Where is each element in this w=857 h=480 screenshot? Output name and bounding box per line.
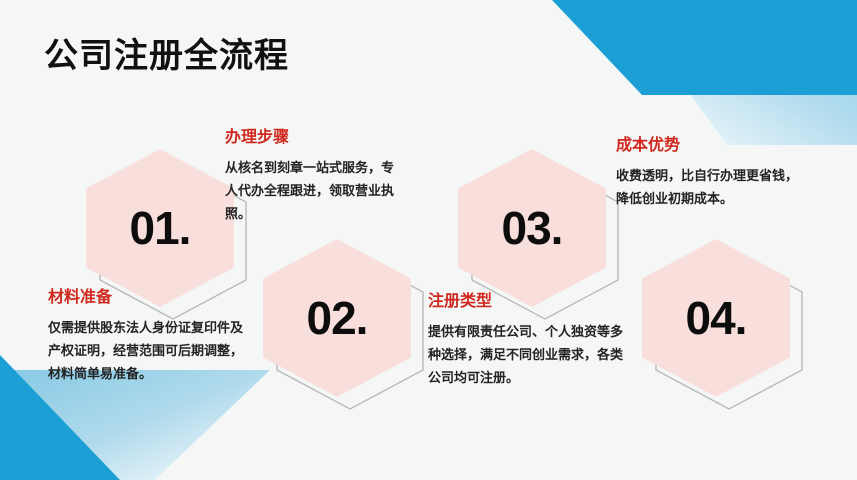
- slide-canvas: 公司注册全流程 01. 02. 03.: [0, 0, 857, 480]
- hexagon-number-4: 04.: [641, 238, 791, 398]
- step-heading-1: 办理步骤: [225, 128, 403, 147]
- top-right-light-parallelogram-shape: [437, 0, 857, 145]
- hexagon-step-1: 01.: [85, 148, 235, 308]
- step-body-4: 提供有限责任公司、个人独资等多种选择，满足不同创业需求，各类公司均可注册。: [428, 321, 624, 389]
- hexagon-step-4: 04.: [641, 238, 791, 398]
- step-text-block-4: 注册类型 提供有限责任公司、个人独资等多种选择，满足不同创业需求，各类公司均可注…: [428, 292, 624, 389]
- top-right-solid-parallelogram-shape: [437, 0, 857, 95]
- hexagon-number-3: 03.: [457, 148, 607, 308]
- step-heading-2: 材料准备: [48, 288, 244, 307]
- step-body-1: 从核名到刻章一站式服务，专人代办全程跟进，领取营业执照。: [225, 157, 403, 225]
- step-text-block-3: 成本优势 收费透明，比自行办理更省钱，降低创业初期成本。: [616, 136, 806, 211]
- step-body-3: 收费透明，比自行办理更省钱，降低创业初期成本。: [616, 165, 806, 211]
- step-text-block-2: 材料准备 仅需提供股东法人身份证复印件及产权证明，经营范围可后期调整，材料简单易…: [48, 288, 244, 385]
- step-heading-3: 成本优势: [616, 136, 806, 155]
- step-heading-4: 注册类型: [428, 292, 624, 311]
- hexagon-step-3: 03.: [457, 148, 607, 308]
- hexagon-number-1: 01.: [85, 148, 235, 308]
- step-text-block-1: 办理步骤 从核名到刻章一站式服务，专人代办全程跟进，领取营业执照。: [225, 128, 403, 225]
- page-title: 公司注册全流程: [44, 36, 289, 77]
- hexagon-number-2: 02.: [262, 238, 412, 398]
- step-body-2: 仅需提供股东法人身份证复印件及产权证明，经营范围可后期调整，材料简单易准备。: [48, 317, 244, 385]
- hexagon-step-2: 02.: [262, 238, 412, 398]
